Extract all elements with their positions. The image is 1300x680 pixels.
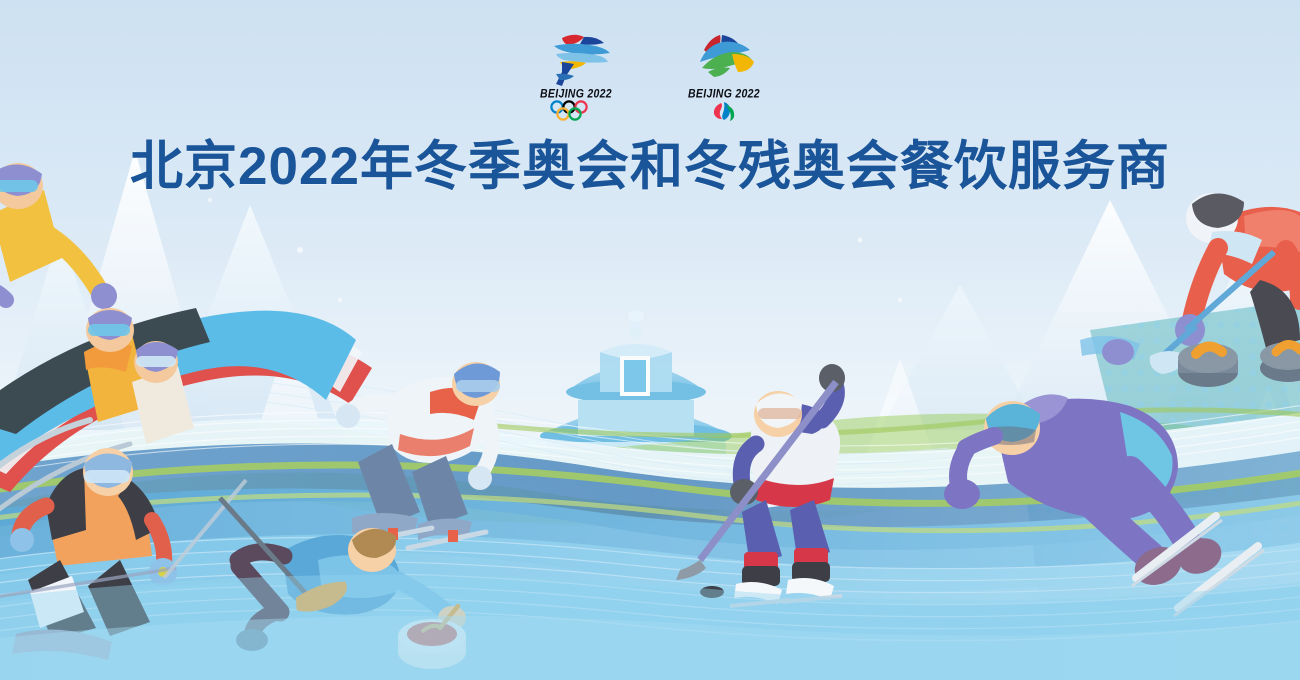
olympic-emblem-icon <box>540 32 612 86</box>
curling-stone-orange <box>1178 343 1238 387</box>
beijing-2022-olympic-emblem: BEIJING 2022 <box>528 32 624 122</box>
beijing-2022-paralympic-emblem: BEIJING 2022 <box>676 32 772 122</box>
emblem-row: BEIJING 2022 BEIJING 2022 <box>0 32 1300 122</box>
olympic-wordmark: BEIJING 2022 <box>528 87 624 101</box>
paralympic-wordmark: BEIJING 2022 <box>676 87 772 101</box>
curling-stone-orange-2 <box>1260 342 1300 382</box>
paralympic-emblem-icon <box>688 32 760 86</box>
beijing-2022-catering-sponsor-banner: BEIJING 2022 BEIJING 2022 <box>0 0 1300 680</box>
paralympic-agitos-icon <box>695 100 753 122</box>
olympic-rings-icon <box>547 100 605 122</box>
